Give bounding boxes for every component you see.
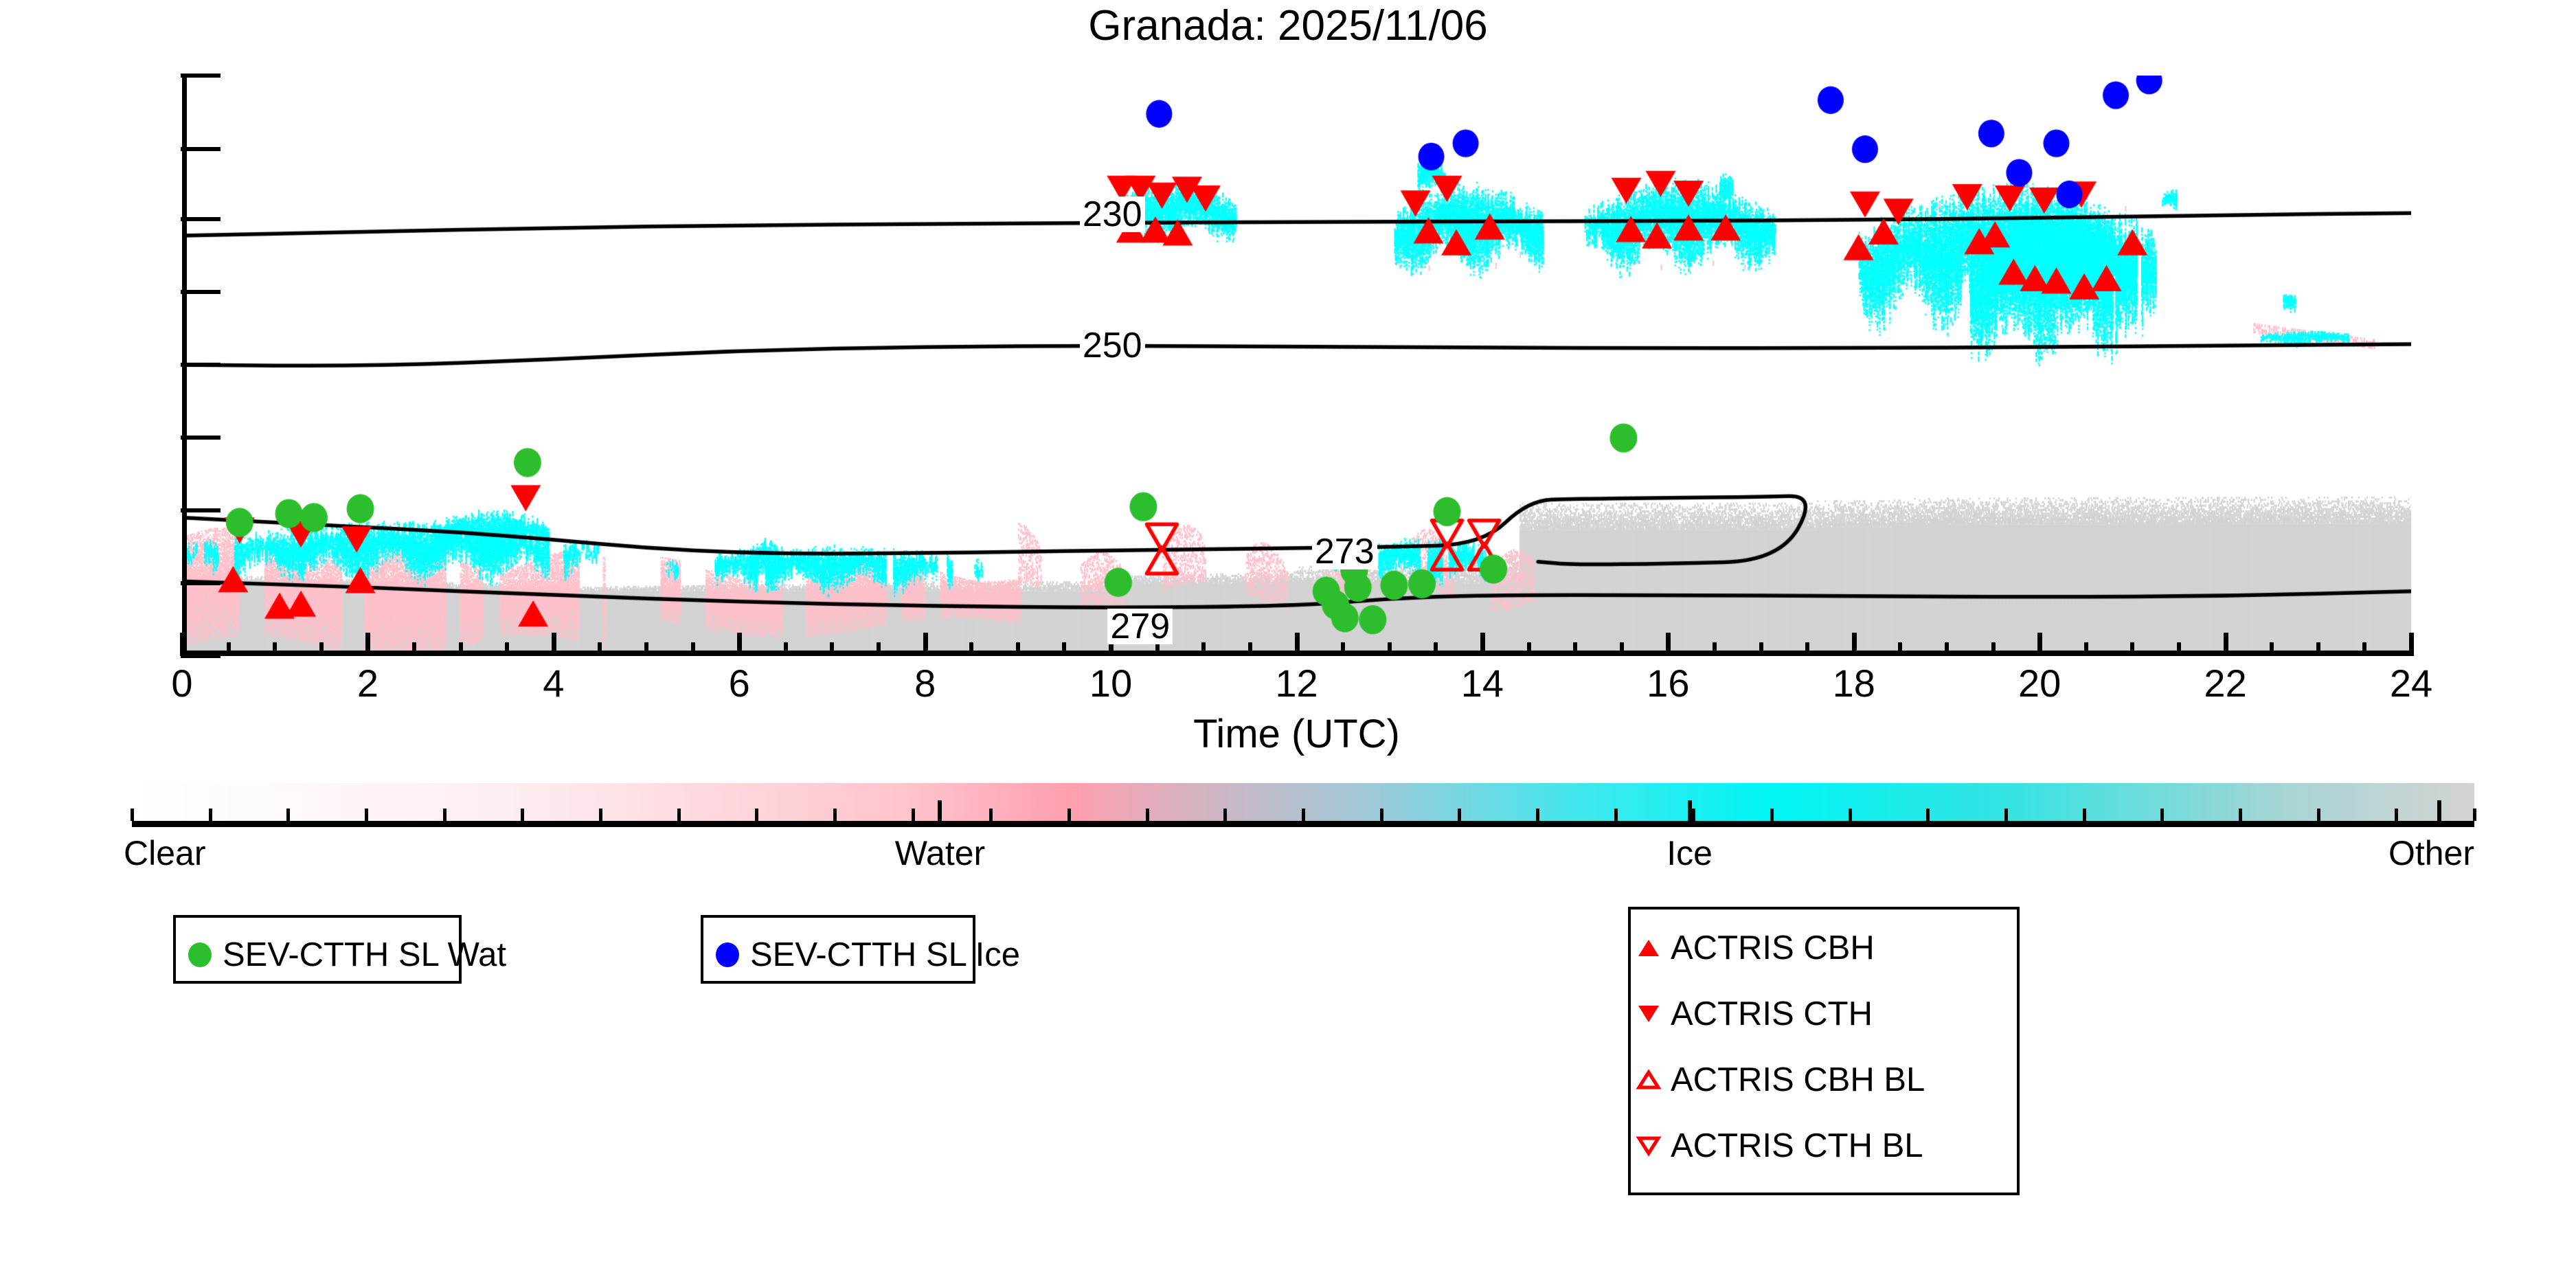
colorbar-tick — [2317, 809, 2320, 821]
y-tick — [181, 74, 221, 78]
x-tick-minor — [1805, 642, 1809, 656]
triangle-up-open-icon — [1634, 1065, 1664, 1095]
x-tick-minor — [1991, 642, 1996, 656]
x-tick-minor — [1527, 642, 1531, 656]
colorbar-tick — [1692, 809, 1695, 821]
y-tick — [181, 290, 221, 294]
x-tick-minor — [644, 642, 648, 656]
x-tick-minor — [2316, 642, 2320, 656]
colorbar-tick — [286, 809, 290, 821]
x-tick-minor — [505, 642, 509, 656]
y-tick — [181, 654, 221, 658]
x-tick-major — [1666, 633, 1671, 656]
x-tick-major — [2037, 633, 2042, 656]
colorbar-axis-line — [132, 821, 2474, 827]
contour-label: 273 — [1312, 534, 1377, 569]
x-tick-minor — [1434, 642, 1438, 656]
contour-label: 230 — [1080, 196, 1145, 232]
colorbar-label: Ice — [1667, 833, 1713, 873]
x-tick-minor — [1201, 642, 1206, 656]
x-tick-major — [1295, 633, 1300, 656]
x-tick-label: 24 — [2390, 661, 2432, 705]
colorbar-tick — [1302, 809, 1305, 821]
y-tick — [181, 508, 221, 512]
colorbar-tick — [1146, 809, 1149, 821]
x-tick-minor — [1388, 642, 1392, 656]
x-tick-minor — [273, 642, 277, 656]
y-tick — [181, 217, 221, 221]
colorbar-tick — [1380, 809, 1383, 821]
colorbar-tick — [2160, 809, 2164, 821]
legend-actris[interactable]: ACTRIS CBH ACTRIS CTH ACTRIS CBH BL ACTR… — [1628, 907, 2020, 1195]
green-circle-icon — [188, 942, 212, 967]
colorbar-tick — [1458, 809, 1461, 821]
colorbar-tick — [365, 809, 368, 821]
x-tick-minor — [459, 642, 463, 656]
x-tick-minor — [691, 642, 695, 656]
colorbar-tick — [1614, 809, 1618, 821]
x-tick-minor — [830, 642, 834, 656]
x-tick-label: 22 — [2204, 661, 2246, 705]
plot-frame — [182, 76, 2411, 656]
y-tick — [181, 581, 221, 585]
legend-label-actris-cth: ACTRIS CTH — [1671, 995, 1873, 1033]
colorbar-tick — [443, 809, 447, 821]
x-tick-minor — [1016, 642, 1020, 656]
y-tick — [181, 147, 221, 151]
x-tick-minor — [2362, 642, 2366, 656]
legend-label-sev-ice: SEV-CTTH SL Ice — [750, 936, 1020, 974]
colorbar-tick — [1926, 809, 1930, 821]
colorbar-tick — [599, 809, 602, 821]
x-tick-major — [2409, 633, 2414, 656]
x-tick-minor — [1759, 642, 1763, 656]
x-tick-label: 2 — [357, 661, 379, 705]
colorbar-tick — [912, 809, 915, 821]
x-tick-major — [552, 633, 556, 656]
colorbar — [132, 783, 2474, 826]
x-tick-label: 0 — [171, 661, 192, 705]
blue-circle-icon — [716, 942, 739, 967]
x-tick-minor — [784, 642, 788, 656]
page-title: Granada: 2025/11/06 — [0, 1, 2576, 50]
legend-sev-ice[interactable]: SEV-CTTH SL Ice — [701, 915, 975, 984]
x-tick-major — [180, 633, 185, 656]
x-axis-label: Time (UTC) — [182, 711, 2411, 757]
colorbar-tick-major — [2437, 800, 2441, 821]
legend-label-actris-cth-bl: ACTRIS CTH BL — [1671, 1127, 1923, 1165]
colorbar-tick — [755, 809, 758, 821]
x-tick-label: 20 — [2018, 661, 2061, 705]
colorbar-tick — [833, 809, 837, 821]
x-tick-minor — [1620, 642, 1624, 656]
colorbar-tick-major — [938, 800, 942, 821]
colorbar-tick — [521, 809, 524, 821]
x-tick-minor — [1713, 642, 1717, 656]
legend-row-actris-cbh: ACTRIS CBH — [1634, 929, 1875, 967]
x-tick-minor — [412, 642, 416, 656]
colorbar-tick — [2395, 809, 2398, 821]
colorbar-label: Other — [2388, 833, 2474, 873]
legend-label-actris-cbh: ACTRIS CBH — [1671, 929, 1875, 967]
colorbar-tick — [2083, 809, 2086, 821]
x-tick-minor — [598, 642, 602, 656]
x-tick-major — [1852, 633, 1857, 656]
x-tick-label: 8 — [914, 661, 936, 705]
legend-sev-wat[interactable]: SEV-CTTH SL Wat — [173, 915, 462, 984]
legend-label-actris-cbh-bl: ACTRIS CBH BL — [1671, 1061, 1925, 1099]
x-tick-minor — [2177, 642, 2181, 656]
colorbar-tick — [1067, 809, 1071, 821]
x-tick-minor — [227, 642, 231, 656]
colorbar-tick — [677, 809, 681, 821]
triangle-down-open-icon — [1634, 1131, 1664, 1161]
x-tick-minor — [2130, 642, 2134, 656]
colorbar-tick — [2004, 809, 2008, 821]
legend-row-sev-wat: SEV-CTTH SL Wat — [188, 936, 506, 974]
x-tick-major — [365, 633, 370, 656]
y-tick — [181, 436, 221, 440]
colorbar-tick — [2473, 809, 2476, 821]
colorbar-tick — [131, 809, 134, 821]
x-tick-minor — [1945, 642, 1949, 656]
x-tick-minor — [1341, 642, 1345, 656]
colorbar-tick — [1223, 809, 1227, 821]
colorbar-tick — [209, 809, 212, 821]
colorbar-tick — [1849, 809, 1852, 821]
x-tick-minor — [2084, 642, 2088, 656]
triangle-up-filled-icon — [1634, 933, 1664, 963]
x-tick-minor — [1898, 642, 1902, 656]
x-tick-label: 10 — [1089, 661, 1132, 705]
legend-row-actris-cth: ACTRIS CTH — [1634, 995, 1873, 1033]
x-tick-major — [923, 633, 928, 656]
colorbar-tick — [2239, 809, 2242, 821]
x-tick-minor — [877, 642, 881, 656]
legend-row-actris-cth-bl: ACTRIS CTH BL — [1634, 1127, 1923, 1165]
plot-area: 230250273279 — [182, 76, 2411, 656]
colorbar-tick — [1536, 809, 1539, 821]
colorbar-tick — [1770, 809, 1774, 821]
x-tick-major — [737, 633, 742, 656]
x-tick-minor — [2270, 642, 2274, 656]
x-tick-label: 14 — [1461, 661, 1504, 705]
x-tick-label: 12 — [1275, 661, 1318, 705]
colorbar-label: Water — [895, 833, 986, 873]
x-tick-label: 18 — [1833, 661, 1875, 705]
contour-label: 279 — [1107, 609, 1173, 644]
x-tick-minor — [319, 642, 324, 656]
colorbar-tick-major — [1688, 800, 1692, 821]
x-tick-major — [1480, 633, 1485, 656]
x-tick-major — [2224, 633, 2228, 656]
x-tick-minor — [1573, 642, 1577, 656]
contour-label: 250 — [1080, 328, 1145, 363]
colorbar-tick — [989, 809, 993, 821]
x-tick-label: 4 — [543, 661, 564, 705]
legend-label-sev-wat: SEV-CTTH SL Wat — [223, 936, 506, 974]
legend-row-sev-ice: SEV-CTTH SL Ice — [716, 936, 1020, 974]
colorbar-label: Clear — [124, 833, 205, 873]
legend-row-actris-cbh-bl: ACTRIS CBH BL — [1634, 1061, 1925, 1099]
x-tick-label: 6 — [729, 661, 750, 705]
x-tick-minor — [969, 642, 973, 656]
y-tick — [181, 363, 221, 367]
triangle-down-filled-icon — [1634, 999, 1664, 1029]
figure-root: Granada: 2025/11/06 Height AMSL (Km) 230… — [0, 0, 2576, 1288]
x-tick-label: 16 — [1647, 661, 1689, 705]
x-tick-minor — [1248, 642, 1252, 656]
x-tick-minor — [1062, 642, 1066, 656]
